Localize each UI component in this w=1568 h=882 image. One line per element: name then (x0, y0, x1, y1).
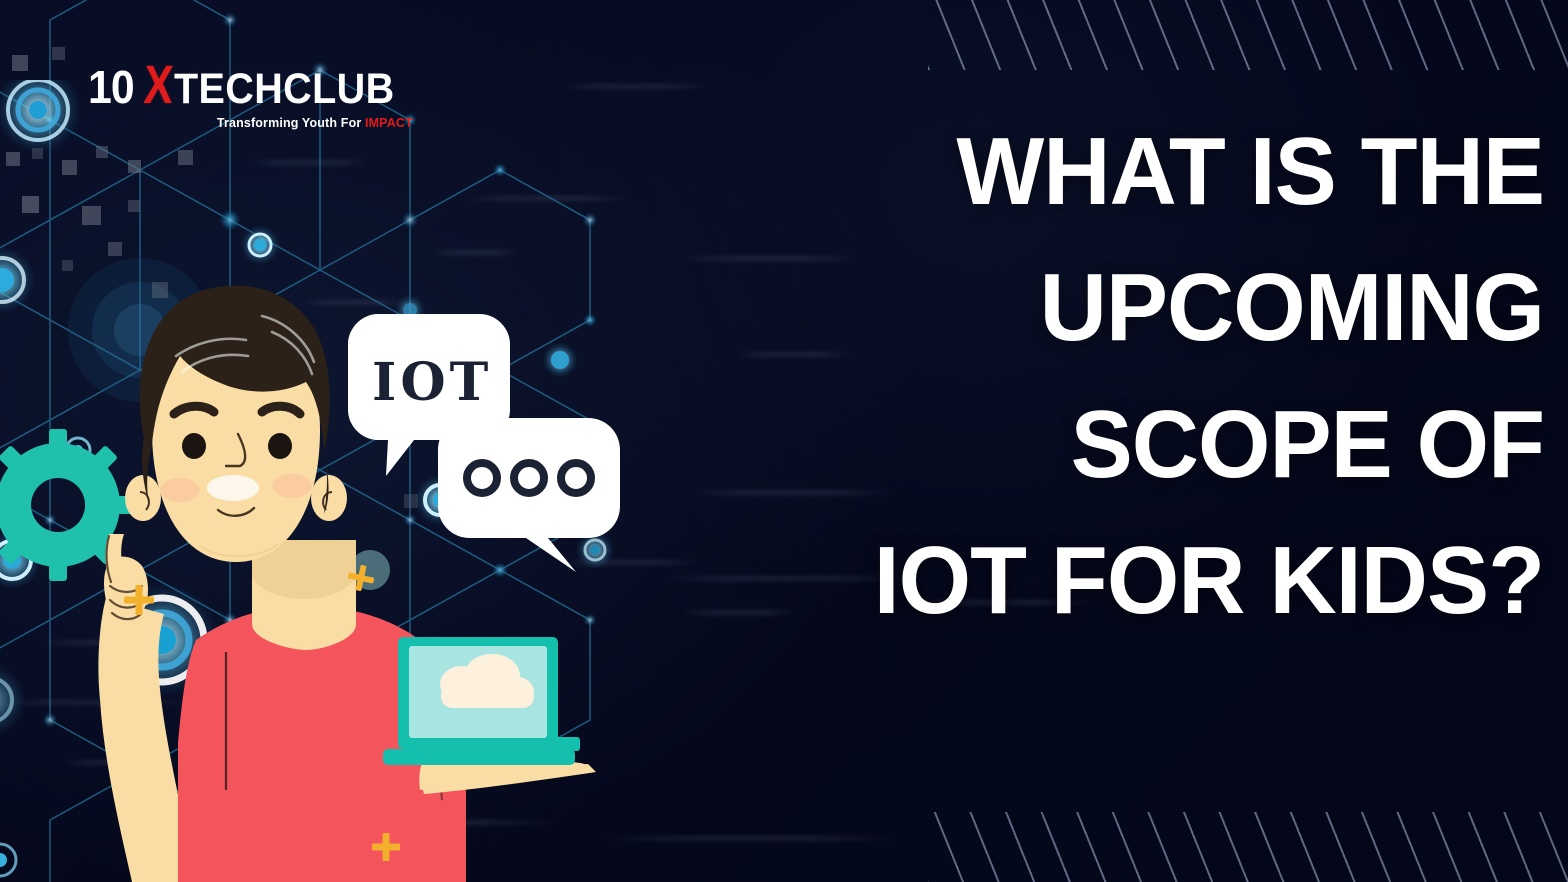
plus-marker-2 (372, 833, 400, 861)
speech-bubble-ellipsis (438, 418, 620, 572)
hatch-pattern-top-right (928, 0, 1568, 70)
tagline-lead-text: Transforming Youth For (217, 116, 365, 130)
logo-word-text: TECHCLUB (174, 68, 395, 111)
title-line-3: SCOPE OF (671, 377, 1544, 513)
tagline-accent-text: IMPACT (365, 116, 413, 130)
hatch-pattern-bottom-right (928, 812, 1568, 882)
brand-logo[interactable]: 10 X TECHCLUB Transforming Youth For IMP… (88, 58, 414, 130)
speech-bubble-iot-label: IOT (372, 352, 492, 413)
head (125, 286, 347, 562)
title-line-4: IOT FOR KIDS? (671, 513, 1544, 649)
logo-tagline: Transforming Youth For IMPACT (88, 117, 414, 130)
title-line-1: WHAT IS THE (671, 104, 1544, 240)
title-line-2: UPCOMING (671, 240, 1544, 376)
page-title: WHAT IS THE UPCOMING SCOPE OF IOT FOR KI… (644, 104, 1544, 649)
logo-prefix-text: 10 (88, 64, 134, 110)
speech-bubbles (330, 300, 630, 580)
poster-canvas: 10 X TECHCLUB Transforming Youth For IMP… (0, 0, 1568, 882)
logo-x-mark: X (143, 58, 175, 112)
logo-wordmark: 10 X TECHCLUB (88, 58, 414, 112)
plus-marker-1 (124, 585, 154, 615)
plus-marker-3 (346, 563, 377, 594)
laptop-icon (383, 637, 580, 765)
